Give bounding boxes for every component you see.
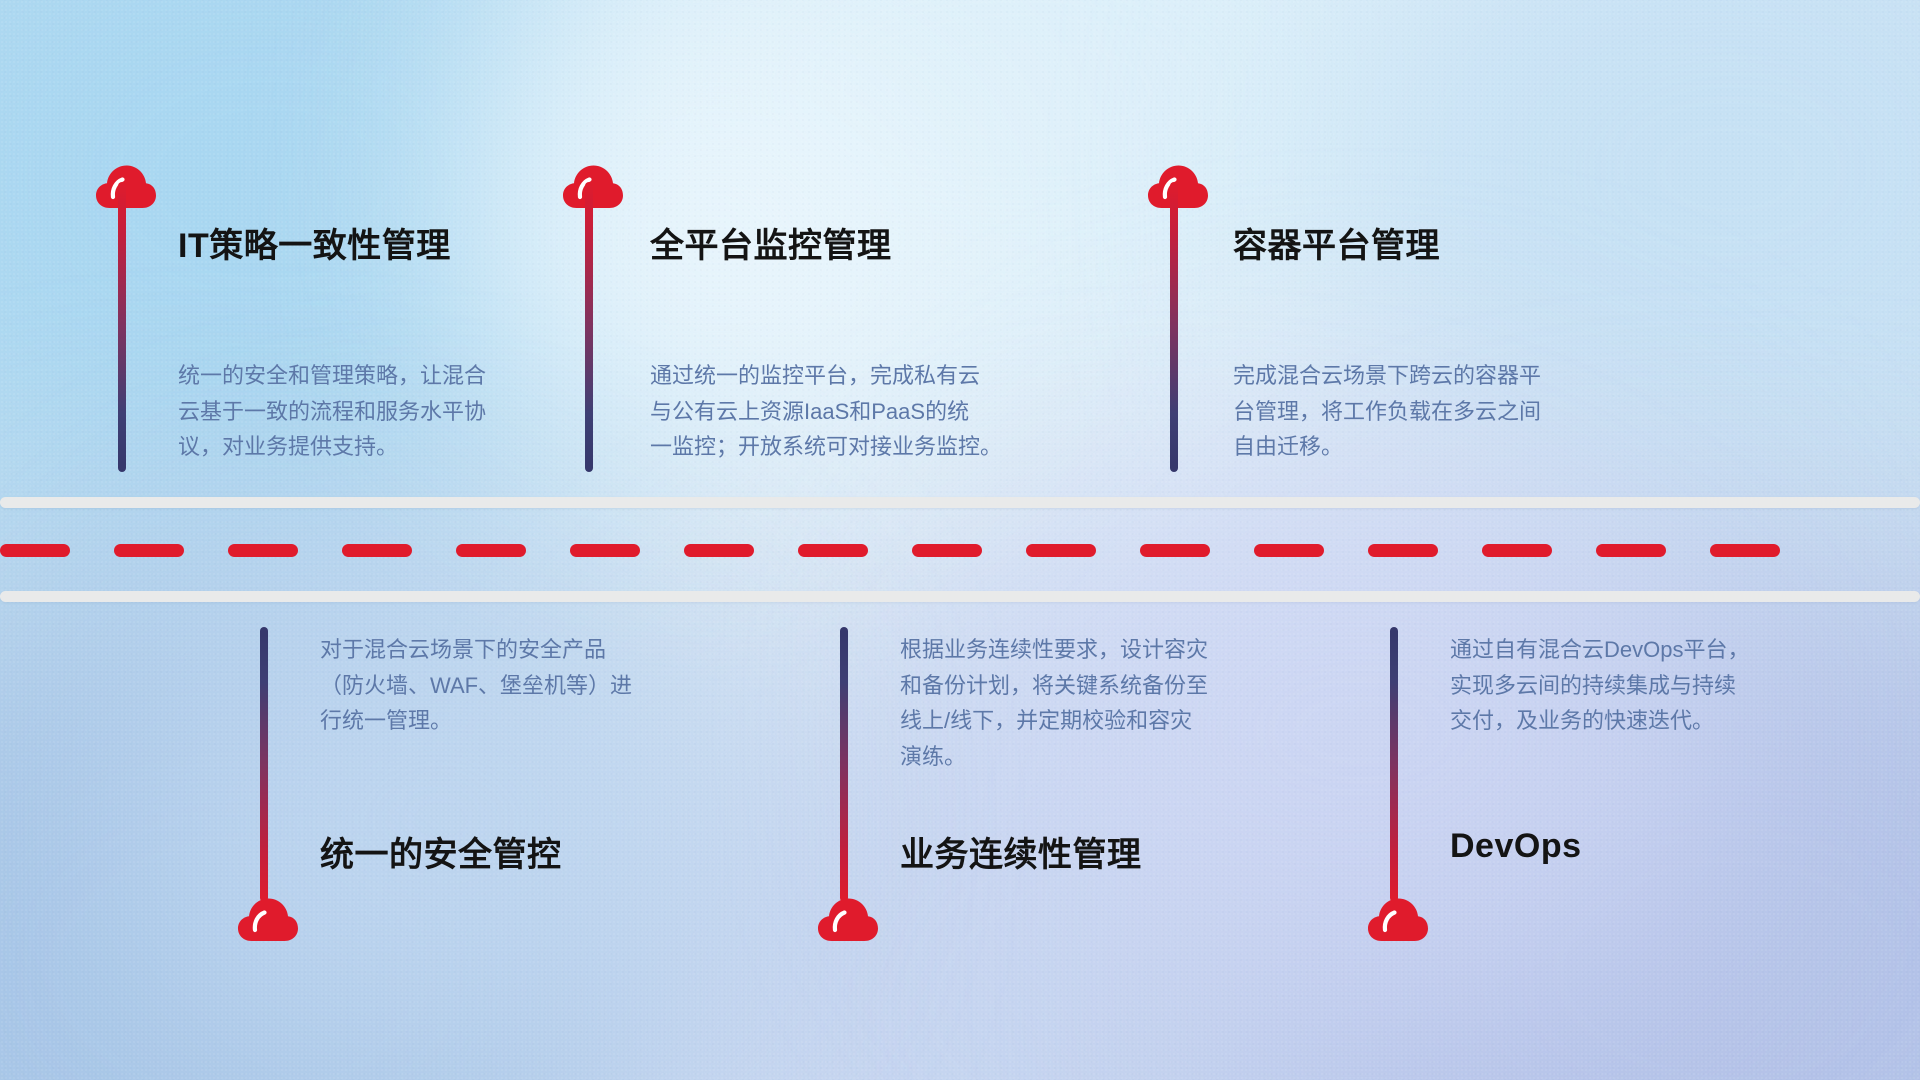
cloud-icon [1147, 163, 1209, 209]
cloud-icon [562, 163, 624, 209]
description-line: 自由迁移。 [1233, 429, 1693, 465]
description-line: 通过自有混合云DevOps平台， [1450, 632, 1910, 668]
feature-description: 完成混合云场景下跨云的容器平 台管理，将工作负载在多云之间 自由迁移。 [1233, 358, 1693, 465]
description-line: 实现多云间的持续集成与持续 [1450, 668, 1910, 704]
description-line: 与公有云上资源IaaS和PaaS的统 [650, 394, 1110, 430]
timeline-stem [1170, 182, 1178, 472]
description-line: 一监控；开放系统可对接业务监控。 [650, 429, 1110, 465]
description-line: 演练。 [900, 739, 1360, 775]
description-line: 统一的安全和管理策略，让混合 [178, 358, 638, 394]
feature-description: 根据业务连续性要求，设计容灾 和备份计划，将关键系统备份至 线上/线下，并定期校… [900, 632, 1360, 775]
feature-description: 通过统一的监控平台，完成私有云 与公有云上资源IaaS和PaaS的统 一监控；开… [650, 358, 1110, 465]
description-line: 线上/线下，并定期校验和容灾 [900, 703, 1360, 739]
description-line: 对于混合云场景下的安全产品 [320, 632, 780, 668]
feature-title: 全平台监控管理 [650, 218, 892, 267]
cloud-icon [95, 163, 157, 209]
timeline-stem [1390, 627, 1398, 902]
description-line: 根据业务连续性要求，设计容灾 [900, 632, 1360, 668]
description-line: 云基于一致的流程和服务水平协 [178, 394, 638, 430]
timeline-stem [118, 182, 126, 472]
feature-title: DevOps [1450, 827, 1582, 866]
timeline-stem [585, 182, 593, 472]
cloud-icon [237, 896, 299, 942]
feature-title: 业务连续性管理 [900, 827, 1142, 876]
feature-description: 通过自有混合云DevOps平台， 实现多云间的持续集成与持续 交付，及业务的快速… [1450, 632, 1910, 739]
description-line: 和备份计划，将关键系统备份至 [900, 668, 1360, 704]
feature-title: 统一的安全管控 [320, 827, 562, 876]
description-line: 台管理，将工作负载在多云之间 [1233, 394, 1693, 430]
description-line: 交付，及业务的快速迭代。 [1450, 703, 1910, 739]
timeline-stem [260, 627, 268, 902]
description-line: 通过统一的监控平台，完成私有云 [650, 358, 1110, 394]
cloud-icon [1367, 896, 1429, 942]
description-line: （防火墙、WAF、堡垒机等）进 [320, 668, 780, 704]
description-line: 议，对业务提供支持。 [178, 429, 638, 465]
cloud-icon [817, 896, 879, 942]
description-line: 行统一管理。 [320, 703, 780, 739]
description-line: 完成混合云场景下跨云的容器平 [1233, 358, 1693, 394]
feature-title: IT策略一致性管理 [178, 218, 451, 267]
timeline-stem [840, 627, 848, 902]
feature-description: 统一的安全和管理策略，让混合 云基于一致的流程和服务水平协 议，对业务提供支持。 [178, 358, 638, 465]
feature-title: 容器平台管理 [1233, 218, 1440, 267]
feature-description: 对于混合云场景下的安全产品 （防火墙、WAF、堡垒机等）进 行统一管理。 [320, 632, 780, 739]
